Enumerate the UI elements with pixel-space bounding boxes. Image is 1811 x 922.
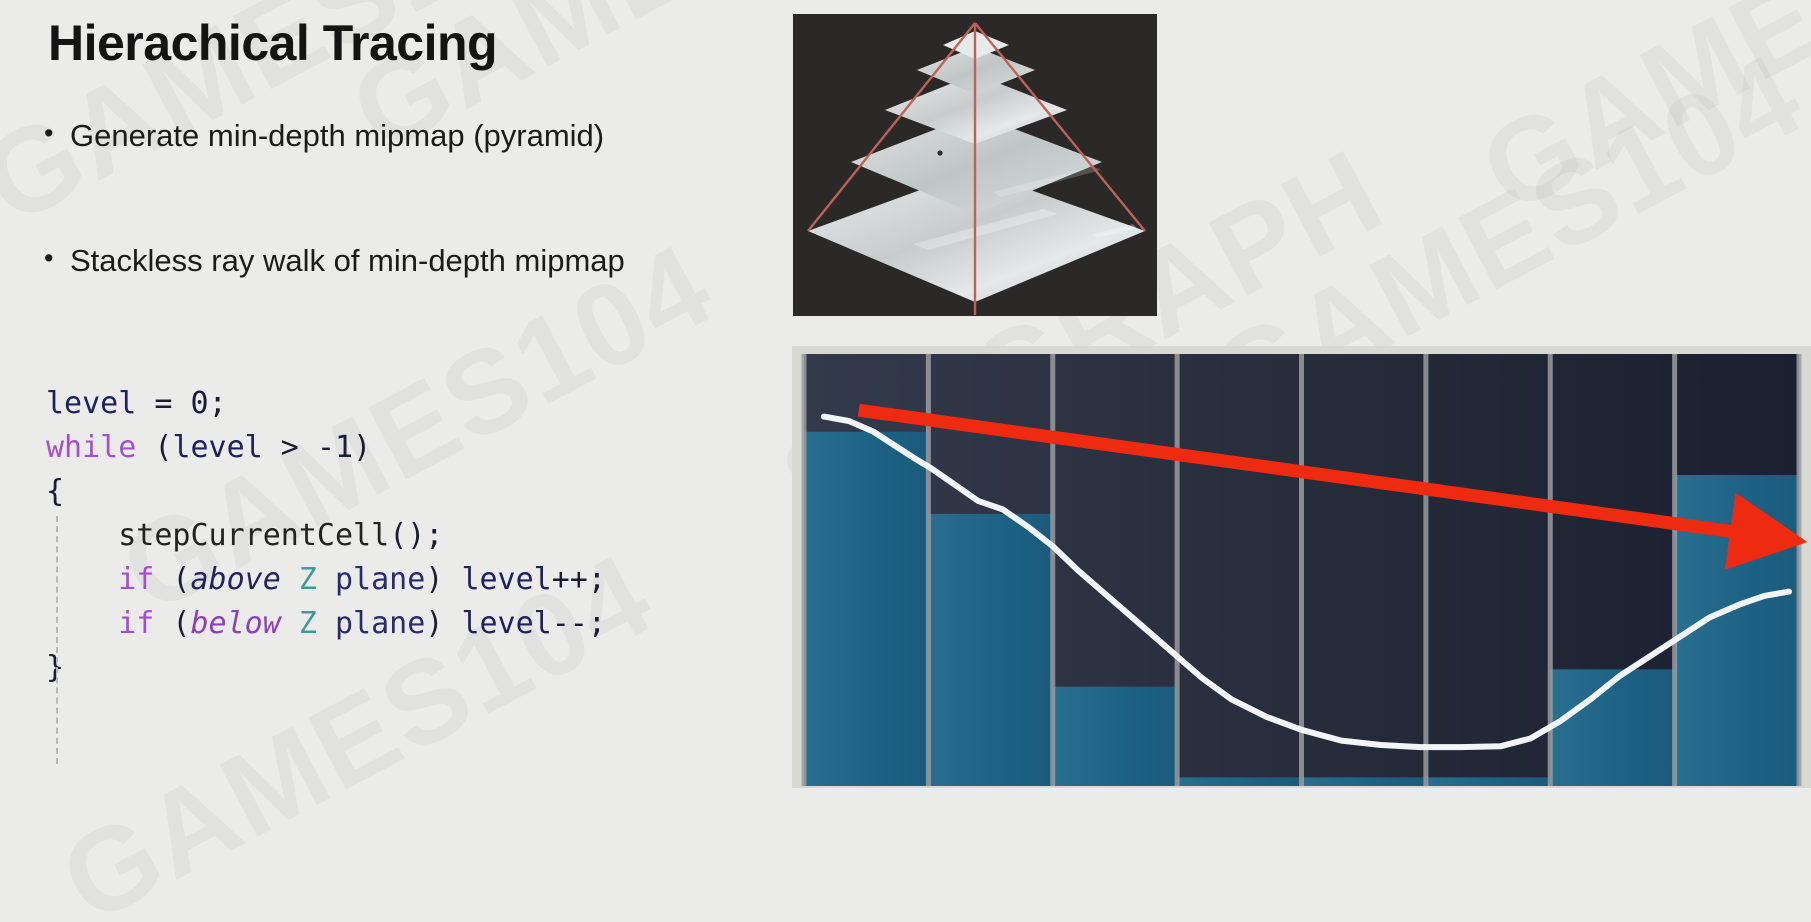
code-line: if (below Z plane) level--;	[46, 602, 606, 646]
slide-title: Hierachical Tracing	[48, 14, 497, 72]
code-token: )	[425, 562, 461, 597]
slide-canvas: GAMES104 GAMES104 SIGGRAPH GAMES104 GAME…	[0, 0, 1811, 922]
code-token: level	[46, 386, 136, 421]
code-token: Z	[299, 562, 317, 597]
code-line: }	[46, 646, 606, 690]
cell-min-depth-fill	[1053, 687, 1177, 786]
code-token: above	[191, 562, 281, 597]
hiz-raywalk-figure	[792, 346, 1811, 788]
code-token: plane	[335, 606, 425, 641]
cell-min-depth-fill	[1426, 777, 1550, 786]
bullet-text: Stackless ray walk of min-depth mipmap	[70, 245, 625, 278]
code-token: level	[461, 562, 551, 597]
code-block: level = 0;while (level > -1){ stepCurren…	[46, 382, 606, 690]
code-token: Z	[299, 606, 317, 641]
code-token: 0	[191, 386, 209, 421]
code-token: ;	[209, 386, 227, 421]
code-token: level	[172, 430, 262, 465]
indent-guide-line	[56, 516, 58, 764]
code-token	[281, 562, 299, 597]
code-token	[172, 386, 190, 421]
code-token: =	[154, 386, 172, 421]
bullet-text: Generate min-depth mipmap (pyramid)	[70, 120, 604, 153]
sample-point-marker	[937, 150, 942, 155]
code-token	[281, 606, 299, 641]
cell-min-depth-fill	[1302, 777, 1426, 786]
code-token: )	[425, 606, 461, 641]
hiz-svg	[792, 346, 1811, 788]
code-token: ++;	[552, 562, 606, 597]
code-token: plane	[335, 562, 425, 597]
bullet-item: • Generate min-depth mipmap (pyramid)	[44, 120, 604, 153]
cell-min-depth-fill	[1177, 777, 1301, 786]
code-token: below	[191, 606, 281, 641]
code-token: (	[154, 606, 190, 641]
bullet-item: • Stackless ray walk of min-depth mipmap	[44, 245, 625, 278]
code-token	[317, 606, 335, 641]
code-line: if (above Z plane) level++;	[46, 558, 606, 602]
cell-min-depth-fill	[1550, 669, 1674, 786]
code-line: stepCurrentCell();	[46, 514, 606, 558]
mipmap-pyramid-figure	[793, 14, 1157, 316]
code-token	[136, 386, 154, 421]
cell-min-depth-fill	[804, 432, 928, 786]
code-token: (	[136, 430, 172, 465]
code-token: if	[118, 606, 154, 641]
code-token: {	[46, 474, 64, 509]
code-line: while (level > -1)	[46, 426, 606, 470]
code-token: -1	[317, 430, 353, 465]
code-token: (	[154, 562, 190, 597]
code-token: if	[118, 562, 154, 597]
code-token	[317, 562, 335, 597]
code-line: {	[46, 470, 606, 514]
code-token: >	[263, 430, 317, 465]
code-token: while	[46, 430, 136, 465]
bullet-marker-icon: •	[44, 120, 70, 147]
code-line: level = 0;	[46, 382, 606, 426]
watermark: GAMES	[1460, 0, 1811, 240]
pyramid-svg	[793, 14, 1157, 316]
code-token: level	[461, 606, 551, 641]
code-token: )	[353, 430, 371, 465]
code-token: stepCurrentCell	[118, 518, 389, 553]
cell-min-depth-fill	[928, 514, 1052, 786]
code-token: --;	[552, 606, 606, 641]
bullet-marker-icon: •	[44, 245, 70, 272]
code-token: ();	[389, 518, 443, 553]
